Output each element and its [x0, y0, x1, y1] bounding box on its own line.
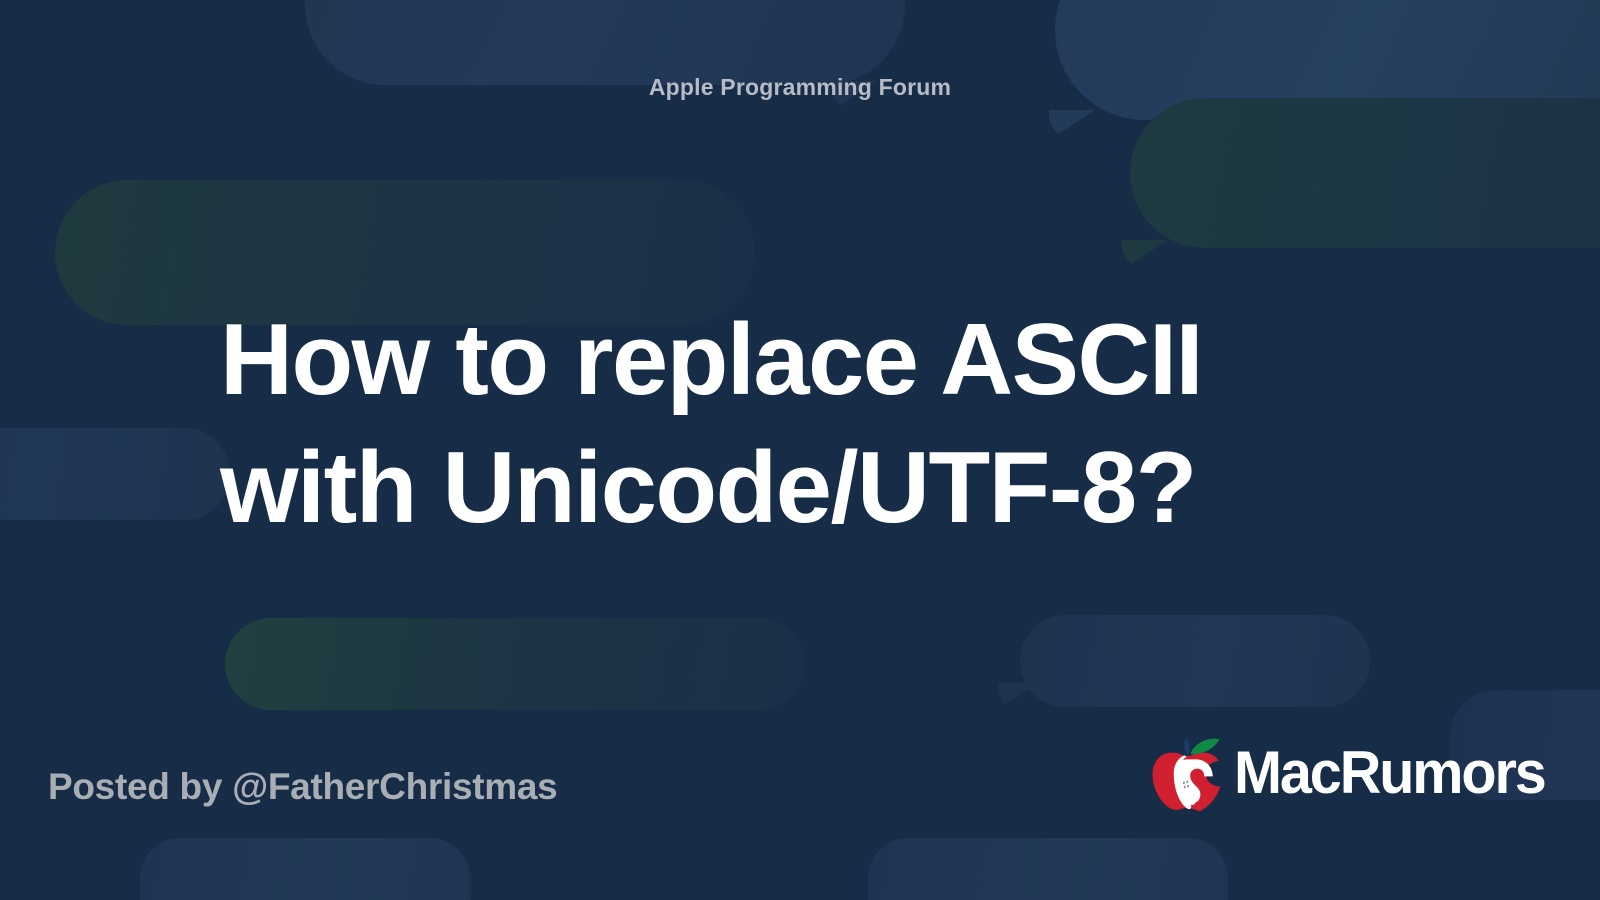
- macrumors-wordmark: MacRumors: [1234, 743, 1545, 803]
- page-title-line-1: How to replace ASCII: [220, 296, 1450, 424]
- forum-name: Apple Programming Forum: [0, 74, 1600, 101]
- card-content: Apple Programming Forum How to replace A…: [0, 0, 1600, 900]
- macrumors-apple-question-mark-icon: [1146, 734, 1232, 812]
- macrumors-logo: MacRumors: [1146, 734, 1558, 812]
- share-card: Apple Programming Forum How to replace A…: [0, 0, 1600, 900]
- page-title: How to replace ASCII with Unicode/UTF-8?: [220, 296, 1450, 553]
- page-title-line-2: with Unicode/UTF-8?: [220, 424, 1450, 552]
- posted-by-label: Posted by @FatherChristmas: [48, 766, 557, 808]
